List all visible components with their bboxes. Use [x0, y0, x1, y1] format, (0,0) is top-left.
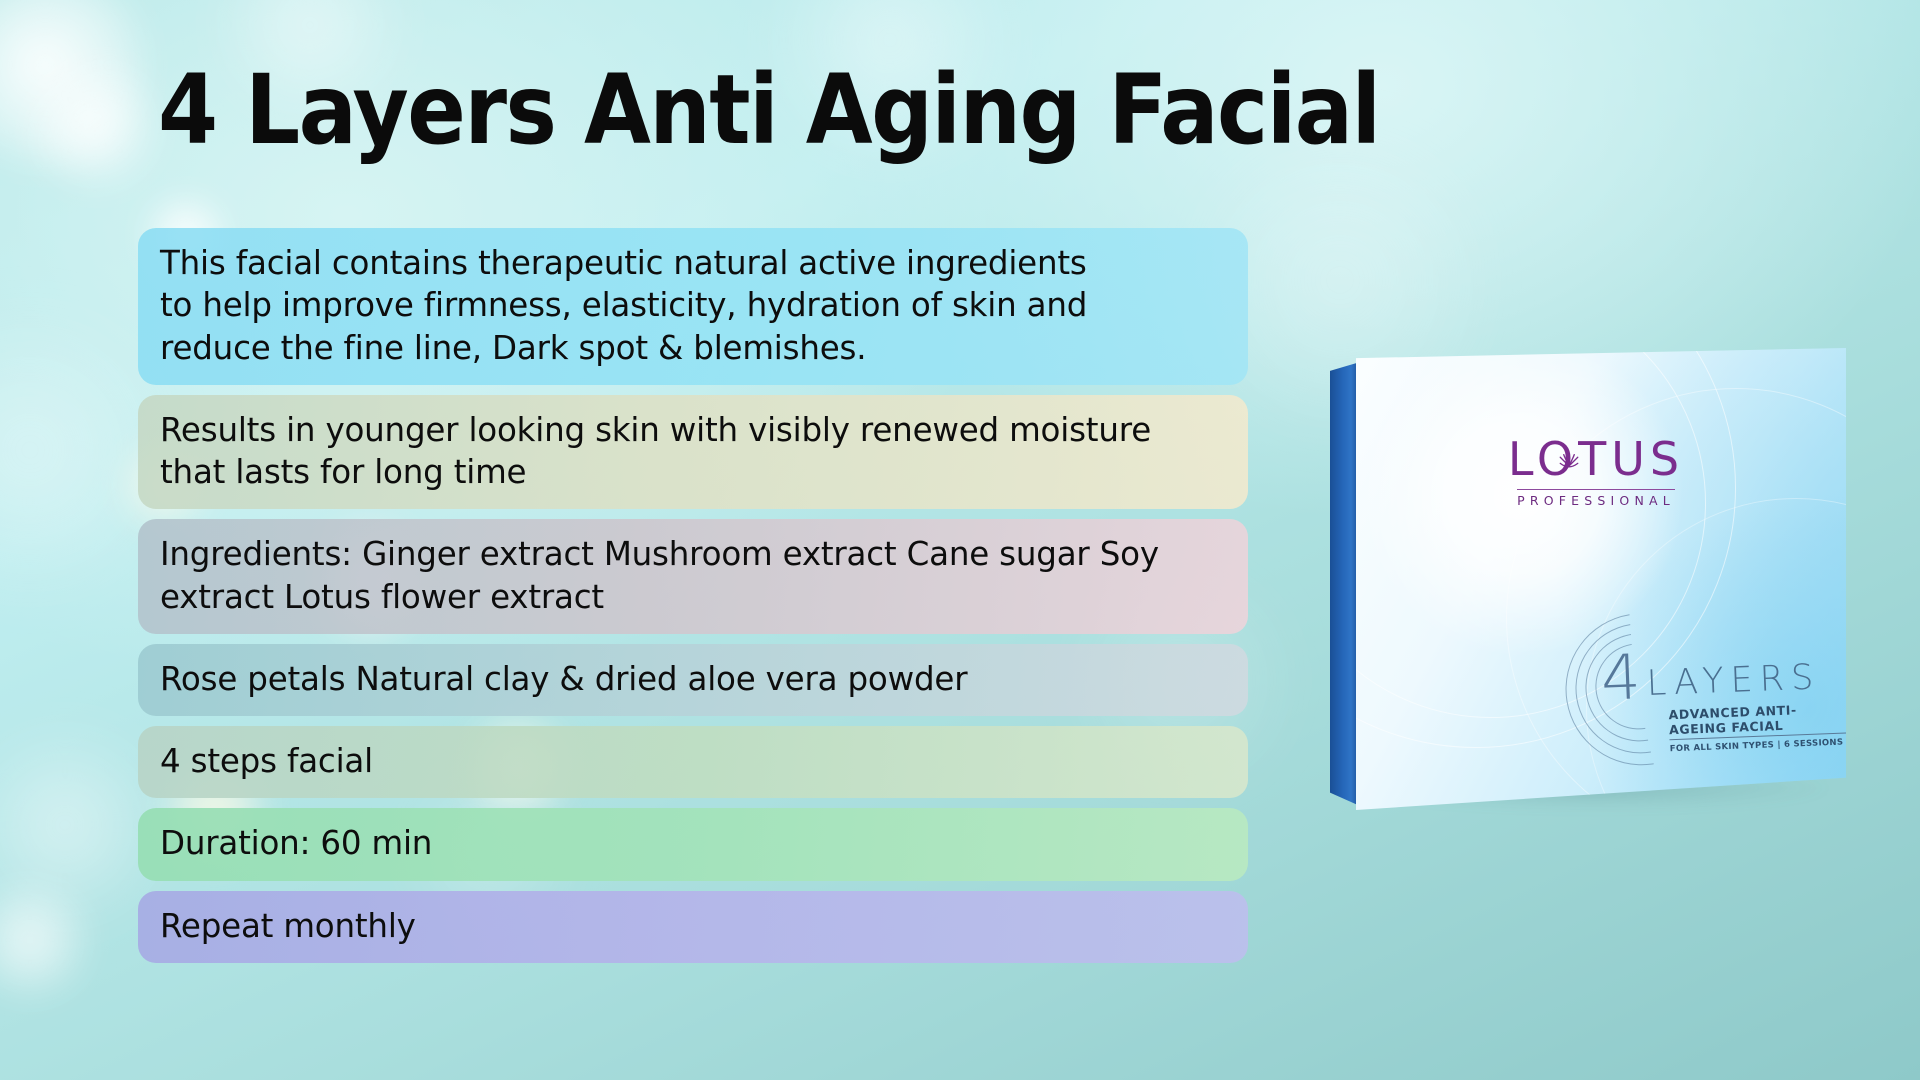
- poster-canvas: 4 Layers Anti Aging Facial This facial c…: [0, 0, 1920, 1080]
- info-band-line: Rose petals Natural clay & dried aloe ve…: [160, 658, 1226, 700]
- lotus-wordmark-text: LOTUS: [1508, 432, 1684, 486]
- bokeh-circle: [0, 0, 150, 170]
- info-band-line: 4 steps facial: [160, 740, 1226, 782]
- info-band-duration: Duration: 60 min: [138, 808, 1248, 880]
- info-band-line: Repeat monthly: [160, 905, 1226, 947]
- info-band-list: This facial contains therapeutic natural…: [138, 228, 1248, 973]
- product-box-spine: [1330, 362, 1360, 806]
- info-band-ingredients: Ingredients: Ginger extract Mushroom ext…: [138, 519, 1248, 634]
- info-band-additional-ingredients: Rose petals Natural clay & dried aloe ve…: [138, 644, 1248, 716]
- info-band-results: Results in younger looking skin with vis…: [138, 395, 1248, 510]
- info-band-line: that lasts for long time: [160, 451, 1226, 493]
- product-box: LOTUS PROFESSIONAL: [1330, 348, 1850, 818]
- info-band-description: This facial contains therapeutic natural…: [138, 228, 1248, 385]
- four-layers-number: 4: [1600, 651, 1641, 705]
- info-band-line: This facial contains therapeutic natural…: [160, 242, 1226, 284]
- info-band-line: Results in younger looking skin with vis…: [160, 409, 1226, 451]
- page-title: 4 Layers Anti Aging Facial: [158, 62, 1380, 160]
- info-band-repeat: Repeat monthly: [138, 891, 1248, 963]
- product-box-front-face: LOTUS PROFESSIONAL: [1356, 348, 1846, 810]
- info-band-line: Duration: 60 min: [160, 822, 1226, 864]
- info-band-line: extract Lotus flower extract: [160, 576, 1226, 618]
- lotus-tagline: PROFESSIONAL: [1517, 489, 1675, 508]
- info-band-line: reduce the fine line, Dark spot & blemis…: [160, 327, 1226, 369]
- four-layers-word: LAYERS: [1646, 659, 1821, 704]
- bokeh-circle: [30, 60, 160, 190]
- info-band-steps: 4 steps facial: [138, 726, 1248, 798]
- bokeh-circle: [0, 880, 90, 1000]
- four-layers-badge: 4 LAYERS ADVANCED ANTI-AGEING FACIAL FOR…: [1600, 643, 1854, 756]
- lotus-wordmark: LOTUS: [1508, 436, 1684, 482]
- four-layers-title-row: 4 LAYERS: [1600, 643, 1852, 705]
- info-band-line: Ingredients: Ginger extract Mushroom ext…: [160, 533, 1226, 575]
- info-band-line: to help improve firmness, elasticity, hy…: [160, 284, 1226, 326]
- lotus-flower-icon: [1555, 445, 1583, 473]
- lotus-logo: LOTUS PROFESSIONAL: [1476, 436, 1716, 510]
